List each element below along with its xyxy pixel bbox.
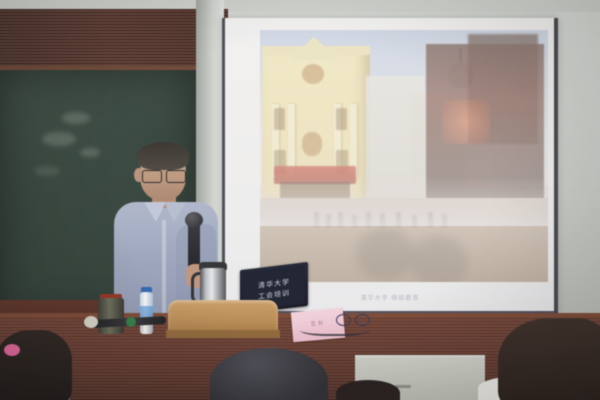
audience-front-left: [0, 330, 72, 400]
green-cap-object: [126, 317, 136, 327]
presenter-eyeglasses: [142, 170, 186, 182]
screen-right-edge: [554, 18, 558, 316]
audience-front-right: [498, 318, 600, 400]
presenter-hair: [137, 142, 189, 170]
hair-tie: [4, 344, 20, 356]
secondary-flask: [98, 298, 124, 334]
audience-far-head: [336, 380, 400, 400]
slide-photograph: [260, 30, 548, 282]
wooden-podium: [168, 300, 278, 334]
wood-slat-wall-panel: [0, 9, 200, 71]
microphone-head-icon: [185, 212, 203, 228]
lecture-hall-photo: 清华大学 继续教育 清华大学 工会培训: [0, 0, 600, 400]
power-cable: [300, 322, 370, 336]
